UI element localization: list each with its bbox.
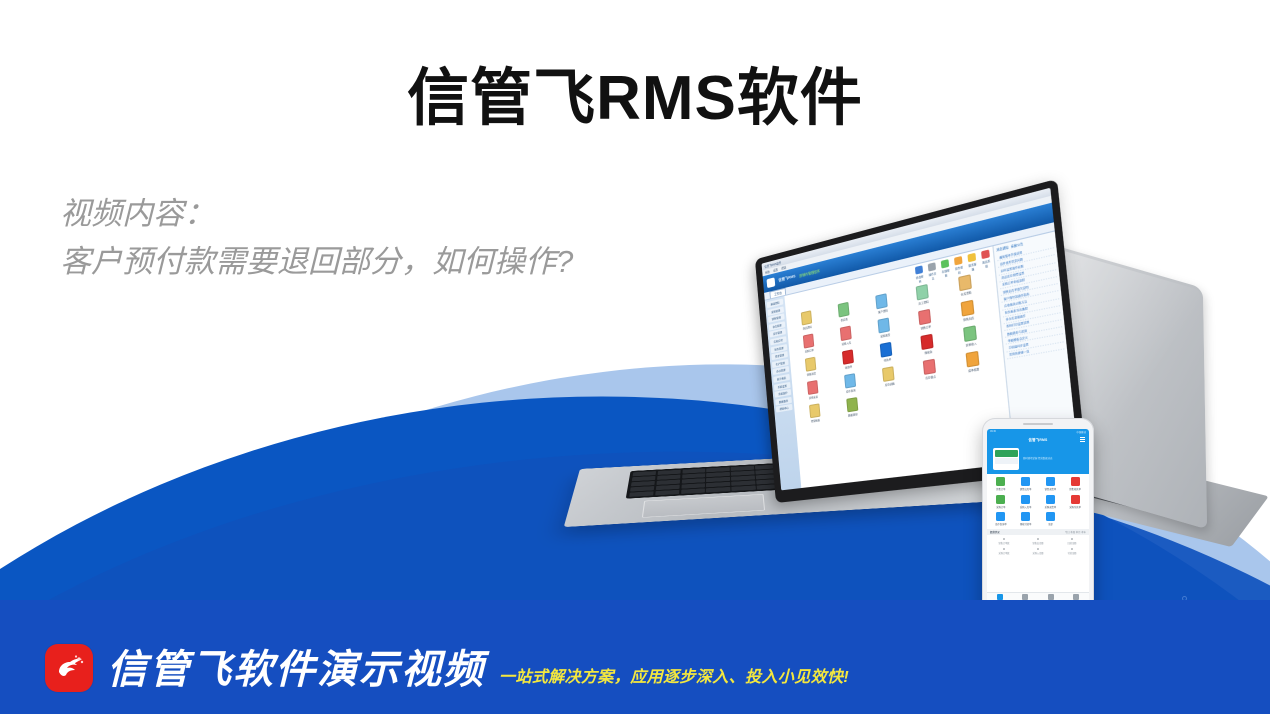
- hero-card-icon: [993, 448, 1019, 470]
- phone-app-header: 信管飞RMS: [987, 434, 1089, 444]
- app-icon-tile[interactable]: 预收款: [907, 331, 949, 358]
- phone-stat-cell: 0回款金额: [1055, 537, 1089, 545]
- phone-icon-tile[interactable]: 库存查询单: [989, 512, 1013, 526]
- app-icon: [880, 342, 893, 358]
- stats-filters[interactable]: 今日 本周 本月 本年: [1065, 530, 1086, 534]
- app-icon: [963, 325, 977, 342]
- app-icon: [923, 359, 936, 375]
- hero-banner-text: 随时随地掌握 经营数据动态: [1023, 457, 1052, 460]
- app-icon: [846, 397, 858, 412]
- app-icon-tile[interactable]: 采购订单: [791, 331, 827, 356]
- app-icon: [801, 310, 812, 325]
- phone-icon: [996, 512, 1005, 521]
- phone-icon-label: 库存查询单: [989, 522, 1013, 526]
- page-title: 信管飞RMS软件: [0, 47, 1270, 137]
- phone-icon-label: 销售退货单: [1039, 487, 1063, 491]
- phone-screen: 09:30 中国移动 信管飞RMS 随时随地掌握 经营数据动态 销售订单销售出库…: [987, 429, 1089, 605]
- phone-stat-cell: 0销售订单数: [987, 537, 1021, 545]
- app-icon-tile[interactable]: 成本核算: [951, 348, 995, 375]
- app-logo-icon: [767, 277, 776, 288]
- app-icon: [807, 380, 818, 395]
- phone-icon: [1046, 477, 1055, 486]
- laptop-trackpad: [642, 494, 765, 518]
- toolbar-label: 软件授权: [955, 265, 964, 276]
- app-icon-tile[interactable]: 采购入库: [827, 323, 865, 349]
- notice-list: 最新版本升级说明软件使用常见问题如何设置操作权限商品库存预警设置采购订单审核流程…: [997, 241, 1065, 359]
- phone-icon: [996, 477, 1005, 486]
- phone-icon-tile[interactable]: 采购退货单: [1039, 495, 1063, 509]
- app-icon: [809, 403, 821, 418]
- phone-icon: [1021, 495, 1030, 504]
- toolbar-label: 修改密码: [916, 274, 924, 284]
- slide-canvas: 信管飞RMS软件 视频内容： 客户预付款需要退回部分，如何操作? 信管飞RMS软…: [0, 0, 1270, 714]
- subtitle-line-1: 视频内容：: [60, 190, 573, 238]
- app-icon-tile[interactable]: 其他支出: [795, 378, 831, 402]
- phone-icon-label: 销售订单: [989, 487, 1013, 491]
- app-icon: [805, 357, 816, 372]
- toolbar-button[interactable]: 联系客服: [967, 253, 977, 273]
- phone-icon: [1021, 477, 1030, 486]
- stat-label: 销售出库额: [1021, 541, 1055, 545]
- app-icon: [882, 366, 895, 382]
- stat-label: 付款金额: [1055, 551, 1089, 555]
- toolbar-label: 联系客服: [968, 262, 977, 273]
- app-icon: [918, 309, 931, 325]
- phone-icon-grid: 销售订单销售出库单销售退货单销售收款单采购订单采购入库单采购退货单采购付款单库存…: [987, 474, 1089, 529]
- phone-icon-label: 采购退货单: [1039, 505, 1063, 509]
- stat-label: 销售订单数: [987, 541, 1021, 545]
- laptop-front-device: 信管飞RMS软件 系统 设置 帮助 信管飞RMS 进销存管理软件 工作台 基础资…: [580, 255, 1050, 585]
- phone-icon-tile[interactable]: 销售出库单: [1014, 477, 1038, 491]
- toolbar-button[interactable]: 修改密码: [915, 265, 924, 284]
- toolbar-button[interactable]: 在线帮助: [941, 259, 950, 278]
- app-icon: [878, 317, 891, 333]
- app-icon-tile[interactable]: 采购退货: [865, 315, 904, 342]
- phone-icon-tile[interactable]: 预收付款单: [1014, 512, 1038, 526]
- app-icon: [839, 326, 851, 342]
- phone-icon-label: 销售收款单: [1063, 487, 1087, 491]
- app-brand-subtitle: 进销存管理软件: [799, 268, 820, 278]
- phone-icon: [1046, 512, 1055, 521]
- app-icon: [958, 274, 972, 291]
- app-icon-tile[interactable]: 销售退货: [793, 354, 829, 379]
- phone-earpiece: [1023, 423, 1053, 425]
- app-icon: [803, 333, 814, 348]
- phone-hero-banner: 随时随地掌握 经营数据动态: [987, 444, 1089, 474]
- tagline-text: 一站式解决方案，应用逐步深入、投入小见效快!: [499, 663, 849, 692]
- app-icon: [916, 284, 929, 301]
- app-icon: [876, 293, 889, 309]
- phone-icon-tile[interactable]: 采购订单: [989, 495, 1013, 509]
- app-icon: [961, 300, 975, 317]
- toolbar-button[interactable]: 软件授权: [954, 256, 964, 275]
- phone-icon-tile[interactable]: 采购入库单: [1014, 495, 1038, 509]
- video-content-subtitle: 视频内容： 客户预付款需要退回部分，如何操作?: [60, 190, 573, 286]
- phone-stat-cell: 0采购订单数: [987, 547, 1021, 555]
- toolbar-label: 操作日志: [929, 271, 937, 281]
- hero-card-grid: [995, 458, 1018, 465]
- sidebar-item[interactable]: 帮助中心: [776, 404, 793, 413]
- phone-stat-cell: 0付款金额: [1055, 547, 1089, 555]
- app-icon-tile[interactable]: 供应商: [825, 299, 863, 325]
- stat-label: 回款金额: [1055, 541, 1089, 545]
- app-icon: [844, 373, 856, 388]
- bottom-banner: 信管飞软件演示视频 一站式解决方案，应用逐步深入、投入小见效快!: [0, 600, 1270, 714]
- app-icon-tile[interactable]: 数据备份: [833, 395, 871, 420]
- app-icon: [921, 334, 934, 350]
- phone-icon: [996, 495, 1005, 504]
- brand-text: 信管飞软件演示视频: [107, 648, 485, 692]
- stats-title: 经营状况: [990, 530, 1000, 534]
- app-icon-tile[interactable]: 商品资料: [789, 308, 825, 334]
- phone-icon-tile[interactable]: 采购付款单: [1063, 495, 1087, 509]
- app-icon-tile[interactable]: 经营报表: [797, 401, 833, 425]
- app-icon-tile[interactable]: 库存查询: [831, 371, 869, 396]
- app-icon: [842, 349, 854, 364]
- banner-content: 信管飞软件演示视频 一站式解决方案，应用逐步深入、投入小见效快!: [45, 644, 849, 692]
- app-icon-tile[interactable]: 客户资料: [863, 290, 902, 317]
- hamburger-menu-icon[interactable]: [1080, 437, 1085, 443]
- phone-icon: [1071, 495, 1080, 504]
- toolbar-label: 退出系统: [982, 258, 991, 269]
- app-icon: [966, 351, 980, 368]
- phone-device: 09:30 中国移动 信管飞RMS 随时随地掌握 经营数据动态 销售订单销售出库…: [982, 418, 1094, 618]
- stat-label: 采购订单数: [987, 551, 1021, 555]
- status-carrier: 中国移动: [1076, 430, 1086, 434]
- stat-label: 采购入库额: [1021, 551, 1055, 555]
- phone-icon: [1021, 512, 1030, 521]
- app-icon-tile[interactable]: 收款单: [829, 347, 867, 372]
- app-icon-tile[interactable]: 其他收入: [949, 322, 993, 350]
- hero-card-top: [995, 450, 1018, 457]
- phone-app-title: 信管飞RMS: [1029, 437, 1048, 442]
- app-brand-name: 信管飞RMS: [778, 274, 795, 283]
- xinguanfei-bird-logo-icon: [45, 644, 93, 692]
- app-icon-tile[interactable]: 库存盘点: [909, 356, 951, 383]
- phone-icon-tile[interactable]: 销售收款单: [1063, 477, 1087, 491]
- phone-stat-cell: 0采购入库额: [1021, 547, 1055, 555]
- phone-icon-label: 预收付款单: [1014, 522, 1038, 526]
- phone-stats-grid: 0销售订单数0销售出库额0回款金额0采购订单数0采购入库额0付款金额: [987, 535, 1089, 557]
- app-icon-tile[interactable]: 付款单: [867, 339, 907, 365]
- phone-icon-tile[interactable]: 全部: [1039, 512, 1063, 526]
- toolbar-button[interactable]: 操作日志: [928, 262, 937, 281]
- app-icon-tile[interactable]: 员工资料: [902, 281, 943, 309]
- phone-icon: [1071, 477, 1080, 486]
- phone-stat-cell: 0销售出库额: [1021, 537, 1055, 545]
- phone-icon-label: 销售出库单: [1014, 487, 1038, 491]
- phone-icon-label: 采购订单: [989, 505, 1013, 509]
- phone-icon-label: 采购付款单: [1063, 505, 1087, 509]
- app-icon-tile[interactable]: 销售订单: [905, 306, 946, 334]
- phone-icon-tile[interactable]: 销售退货单: [1039, 477, 1063, 491]
- toolbar-button[interactable]: 退出系统: [981, 249, 991, 269]
- phone-icon-label: 采购入库单: [1014, 505, 1038, 509]
- status-time: 09:30: [990, 430, 996, 433]
- app-icon-tile[interactable]: 销售出库: [946, 297, 989, 325]
- app-icon-grid: 商品资料供应商客户资料员工资料仓库资料采购订单采购入库采购退货销售订单销售出库销…: [789, 269, 1005, 425]
- subtitle-line-2: 客户预付款需要退回部分，如何操作?: [60, 238, 573, 286]
- toolbar-label: 在线帮助: [942, 268, 951, 278]
- phone-icon-label: 全部: [1039, 522, 1063, 526]
- phone-icon-tile[interactable]: 销售订单: [989, 477, 1013, 491]
- phone-icon: [1046, 495, 1055, 504]
- app-icon-tile[interactable]: 库存调拨: [869, 364, 909, 390]
- app-icon: [837, 302, 849, 318]
